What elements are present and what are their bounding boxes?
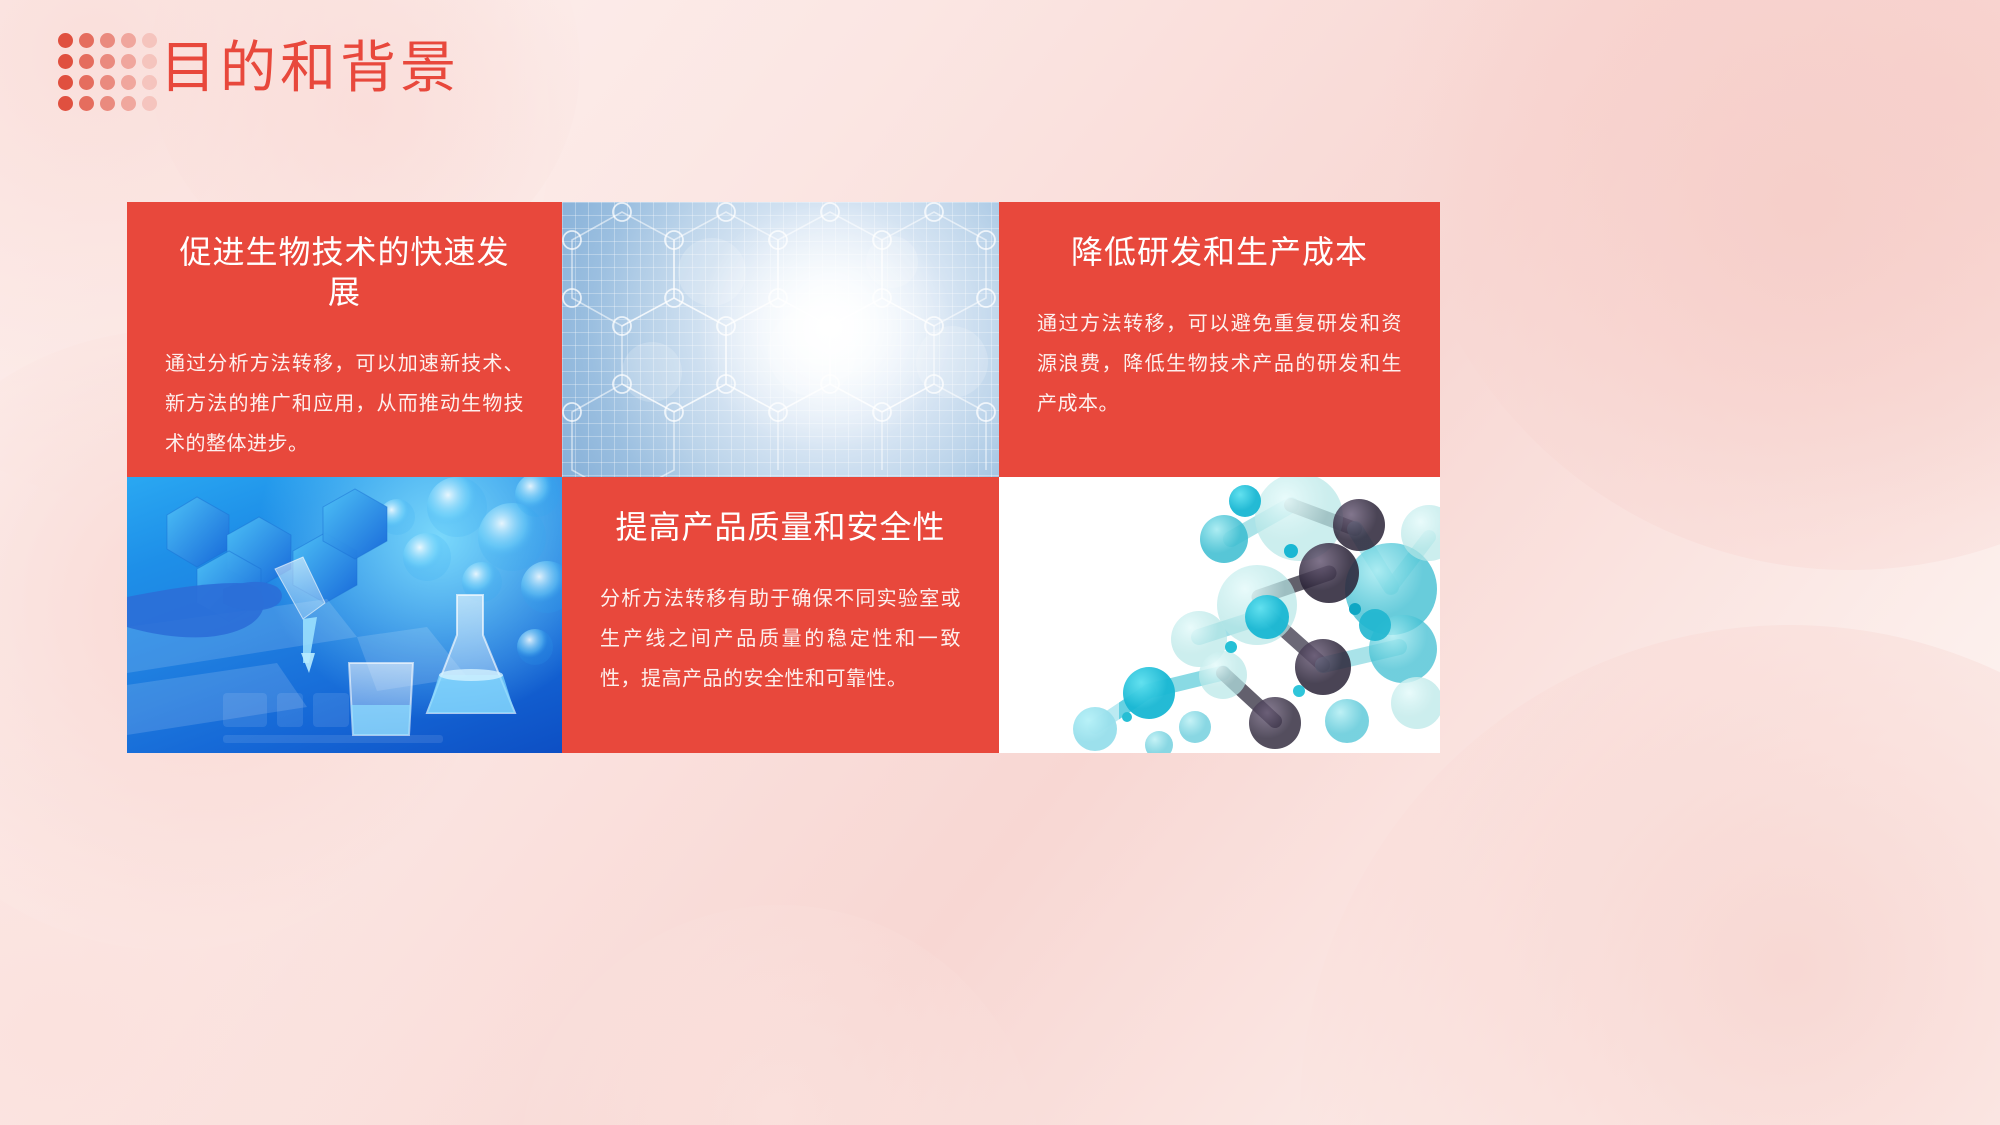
dot [142,75,157,90]
dot [58,54,73,69]
card-title: 促进生物技术的快速发展 [165,232,524,312]
card-body: 分析方法转移有助于确保不同实验室或生产线之间产品质量的稳定性和一致性，提高产品的… [600,579,961,699]
dot [121,75,136,90]
molecule-vector [999,477,1440,753]
dot [79,96,94,111]
background-circle-decoration [520,905,1040,1125]
dot [100,54,115,69]
dot [121,54,136,69]
card-body: 通过分析方法转移，可以加速新技术、新方法的推广和应用，从而推动生物技术的整体进步… [165,344,524,464]
dot [142,96,157,111]
center-glow [562,202,999,477]
dot [79,75,94,90]
dot [121,33,136,48]
lab-photo-image [127,477,562,753]
hex-network-image [562,202,999,477]
card-improve-quality[interactable]: 提高产品质量和安全性 分析方法转移有助于确保不同实验室或生产线之间产品质量的稳定… [562,477,999,753]
dot [100,33,115,48]
dot [142,54,157,69]
dot [79,33,94,48]
image-hex-network [562,202,999,477]
molecule-blobs-image [999,477,1440,753]
image-molecule-blobs [999,477,1440,753]
dot [58,75,73,90]
card-promote-biotech[interactable]: 促进生物技术的快速发展 通过分析方法转移，可以加速新技术、新方法的推广和应用，从… [127,202,562,477]
slide-canvas: 目的和背景 促进生物技术的快速发展 通过分析方法转移，可以加速新技术、新方法的推… [0,0,2000,1125]
content-grid: 促进生物技术的快速发展 通过分析方法转移，可以加速新技术、新方法的推广和应用，从… [127,202,1440,753]
dot [100,96,115,111]
dot [58,96,73,111]
image-lab-pipette [127,477,562,753]
dot [58,33,73,48]
lab-scene-vector [127,477,562,753]
card-reduce-cost[interactable]: 降低研发和生产成本 通过方法转移，可以避免重复研发和资源浪费，降低生物技术产品的… [999,202,1440,477]
page-title: 目的和背景 [160,34,460,104]
card-title: 提高产品质量和安全性 [600,507,961,547]
dot [142,33,157,48]
card-title: 降低研发和生产成本 [1037,232,1402,272]
dot [100,75,115,90]
dot [121,96,136,111]
dot [79,54,94,69]
dot-grid-icon [58,33,163,117]
slide-header: 目的和背景 [0,0,2000,140]
card-body: 通过方法转移，可以避免重复研发和资源浪费，降低生物技术产品的研发和生产成本。 [1037,304,1402,424]
